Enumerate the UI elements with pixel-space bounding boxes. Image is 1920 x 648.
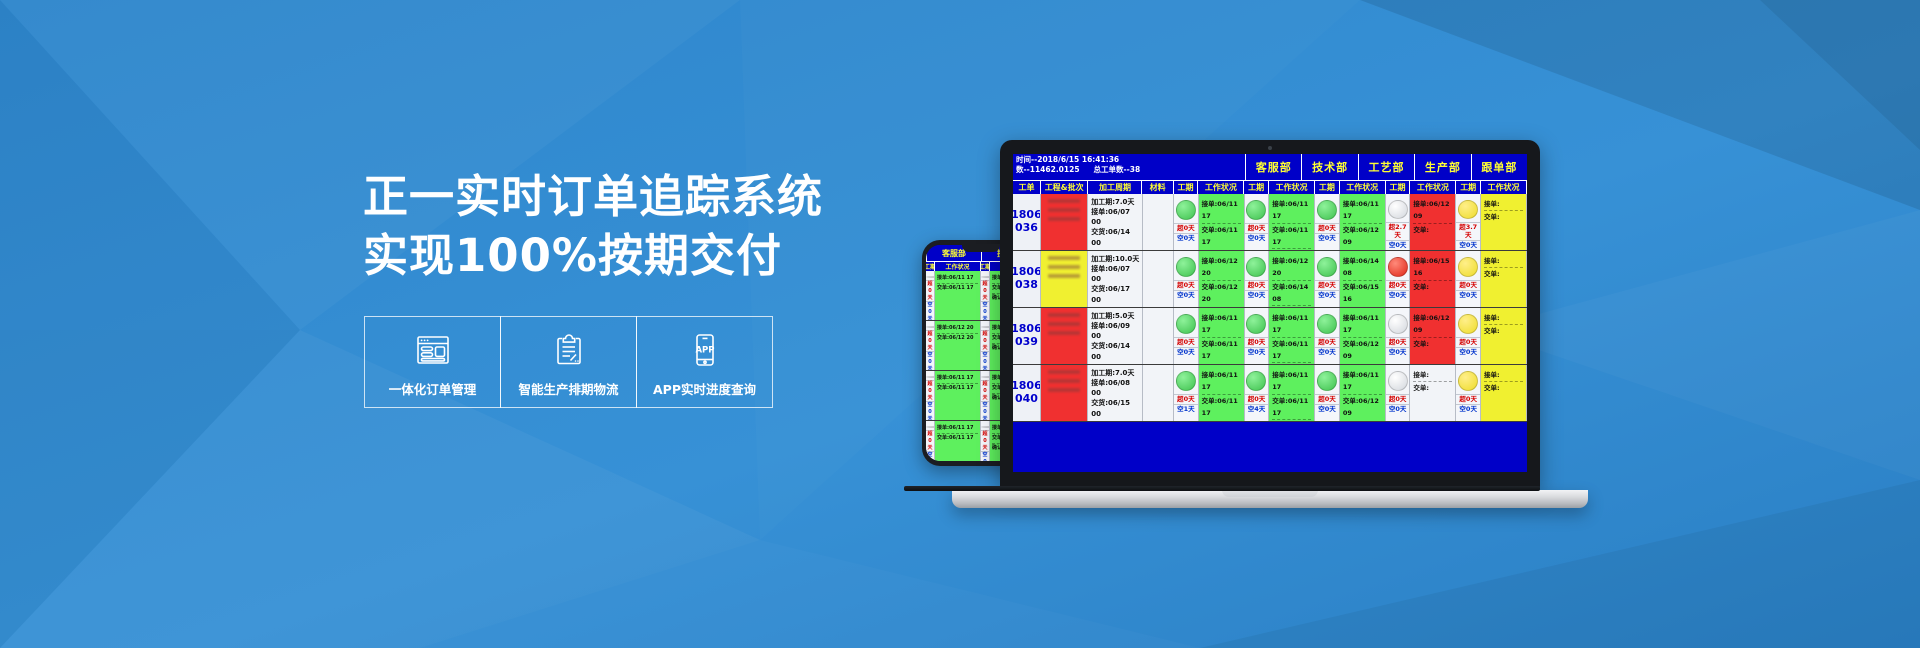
laptop-hinge xyxy=(904,486,1540,491)
status-line: 接单:06/12 09 xyxy=(1413,312,1452,338)
project-text-redacted xyxy=(1048,256,1080,260)
overdue-tag: 超0天 xyxy=(981,430,989,451)
overdue-tag: 超0天 xyxy=(981,380,989,401)
status-line: 交单:06/11 17 xyxy=(937,434,978,443)
cycle-delivery: 交货:06/15 00 xyxy=(1091,398,1140,418)
overdue-tag: 超0天 xyxy=(1174,337,1198,347)
column-header-duration: 工期 xyxy=(1244,181,1269,194)
work-order-cell[interactable]: 1806039 xyxy=(1013,308,1041,364)
feature-item-order-management[interactable]: 一体化订单管理 xyxy=(364,316,501,408)
status-cell: 接单:交单: xyxy=(1410,365,1456,421)
idle-tag: 空0天 xyxy=(981,401,989,420)
table-header-row: 工单工程&批次加工周期材料工期工作状况工期工作状况工期工作状况工期工作状况工期工… xyxy=(1013,180,1527,194)
cycle-duration: 加工期:5.0天 xyxy=(1091,311,1140,321)
status-line: 交单:06/15 16 xyxy=(1343,281,1382,306)
overdue-tag: 超0天 xyxy=(1456,280,1480,290)
status-indicator-green xyxy=(1246,371,1266,391)
status-cell: 接单:06/11 17交单:06/11 17确认:06/11 17 xyxy=(1269,194,1315,250)
overdue-tag: 超0天 xyxy=(1315,337,1339,347)
overdue-tag: 超0天 xyxy=(1174,394,1198,404)
idle-tag: 空0天 xyxy=(1315,290,1339,300)
dashboard-total-orders: 总工单数--38 xyxy=(1094,165,1141,175)
status-line: 交单:06/11 17 xyxy=(1202,338,1241,363)
cycle-delivery: 交货:06/17 00 xyxy=(1091,284,1140,304)
status-indicator-yellow xyxy=(1458,257,1478,277)
status-indicator-yellow xyxy=(1458,371,1478,391)
idle-tag: 空0天 xyxy=(1456,240,1480,250)
project-text-redacted xyxy=(1048,388,1080,392)
cycle-duration: 加工期:7.0天 xyxy=(1091,197,1140,207)
project-text-redacted xyxy=(1048,274,1080,278)
status-line: 确认:06/14 08 xyxy=(1272,306,1311,307)
status-line: 交单:06/11 17 xyxy=(937,284,978,293)
duration-cell: 超0天空0天 xyxy=(1245,251,1270,307)
project-text-redacted xyxy=(1048,265,1080,269)
idle-tag: 空0天 xyxy=(1456,347,1480,357)
status-line: 接单:06/11 17 xyxy=(1343,369,1382,395)
feature-label: APP实时进度查询 xyxy=(653,379,756,398)
status-line: 交单:06/14 08 xyxy=(1272,281,1311,307)
duration-cell: 超0天空0天 xyxy=(1315,194,1340,250)
cycle-duration: 加工期:10.0天 xyxy=(1091,254,1140,264)
status-cell: 接单:06/11 17交单:06/11 17 xyxy=(1199,308,1245,364)
duration-cell: 超0天空0天 xyxy=(1245,308,1270,364)
status-line: 确认:06/11 17 xyxy=(1272,420,1311,421)
idle-tag: 空0天 xyxy=(981,351,989,370)
dashboard-amount: 数--11462.0125 xyxy=(1016,165,1080,175)
cycle-duration: 加工期:7.0天 xyxy=(1091,368,1140,378)
status-indicator-green xyxy=(1317,314,1337,334)
status-line: 交单: xyxy=(1484,382,1523,394)
work-order-number: 039 xyxy=(1015,336,1038,349)
duration-cell: 超0天空4天 xyxy=(1245,365,1270,421)
status-cell: 接单:06/12 20交单:06/12 20 xyxy=(935,321,981,370)
status-line: 交单:06/12 09 xyxy=(1343,224,1382,249)
overdue-tag: 超0天 xyxy=(926,430,934,451)
status-line: 交单:06/12 20 xyxy=(1202,281,1241,306)
status-line: 交单:06/11 17 xyxy=(1272,224,1311,250)
material-cell xyxy=(1143,308,1174,364)
overdue-tag: 超0天 xyxy=(1245,394,1269,404)
idle-tag: 空1天 xyxy=(1174,404,1198,414)
overdue-tag: 超0天 xyxy=(1245,337,1269,347)
department-header: 跟单部 xyxy=(1471,154,1527,180)
feature-item-app-progress-query[interactable]: APP APP实时进度查询 xyxy=(636,316,773,408)
cycle-received: 接单:06/09 00 xyxy=(1091,321,1140,341)
duration-cell: 超0天空0天 xyxy=(1245,194,1270,250)
department-header: 客服部 xyxy=(1245,154,1301,180)
status-cell: 接单:06/12 09交单: xyxy=(1410,194,1456,250)
status-line: 接单: xyxy=(1413,369,1452,382)
status-cell: 接单:06/12 20交单:06/12 20 xyxy=(1199,251,1245,307)
status-indicator-green xyxy=(981,376,990,378)
status-line: 接单:06/12 20 xyxy=(937,324,978,334)
status-cell: 接单:06/11 17交单:06/11 17确认:06/11 17 xyxy=(1269,308,1315,364)
department-header-group: 客服部技术部工艺部生产部跟单部 xyxy=(1245,154,1527,180)
status-cell: 接单:06/15 16交单: xyxy=(1410,251,1456,307)
status-line: 交单:06/11 17 xyxy=(1272,395,1311,421)
status-line: 接单:06/12 20 xyxy=(1272,255,1311,281)
idle-tag: 空0天 xyxy=(1245,233,1269,243)
idle-tag: 空0天 xyxy=(1174,290,1198,300)
project-batch-cell xyxy=(1041,308,1088,364)
work-order-cell[interactable]: 1806040 xyxy=(1013,365,1041,421)
work-order-number: 040 xyxy=(1015,393,1038,406)
status-line: 接单:06/11 17 xyxy=(1272,312,1311,338)
idle-tag: 空0天 xyxy=(1456,290,1480,300)
status-cell: 接单:交单: xyxy=(1481,251,1527,307)
status-indicator-green xyxy=(926,276,935,278)
department-header: 工艺部 xyxy=(1358,154,1414,180)
status-line: 接单:06/11 17 xyxy=(1343,198,1382,224)
work-order-number: 036 xyxy=(1015,222,1038,235)
project-text-redacted xyxy=(1048,313,1080,317)
webcam-icon xyxy=(1268,146,1272,150)
overdue-tag: 超0天 xyxy=(1245,280,1269,290)
laptop-screen[interactable]: 时间--2018/6/15 16:41:36 数--11462.0125 总工单… xyxy=(1013,154,1527,472)
status-indicator-green xyxy=(926,326,935,328)
status-line: 接单:06/15 16 xyxy=(1413,255,1452,281)
status-line: 交单:06/12 20 xyxy=(937,334,978,343)
column-header: 工单 xyxy=(1013,181,1041,194)
status-line: 确认:06/11 17 xyxy=(1272,363,1311,364)
status-line: 接单:06/11 17 xyxy=(1272,198,1311,224)
overdue-tag: 超0天 xyxy=(926,330,934,351)
status-indicator-green xyxy=(1176,257,1196,277)
dashboard-time: 时间--2018/6/15 16:41:36 xyxy=(1016,155,1119,165)
status-cell: 接单:06/11 17交单:06/11 17 xyxy=(1199,365,1245,421)
status-indicator-grey xyxy=(1388,371,1408,391)
status-line: 交单: xyxy=(1413,338,1452,350)
column-header-status: 工作状况 xyxy=(1269,181,1315,194)
status-indicator-yellow xyxy=(1458,200,1478,219)
project-text-redacted xyxy=(1048,217,1080,221)
column-header: 加工周期 xyxy=(1088,181,1142,194)
overdue-tag: 超0天 xyxy=(1174,280,1198,290)
duration-cell: 超0天空0天 xyxy=(1315,365,1340,421)
project-batch-cell xyxy=(1041,365,1088,421)
idle-tag: 空0天 xyxy=(1386,240,1410,250)
overdue-tag: 超0天 xyxy=(1456,394,1480,404)
status-line: 交单:06/11 17 xyxy=(1202,224,1241,249)
overdue-tag: 超0天 xyxy=(1174,223,1198,233)
idle-tag: 空0天 xyxy=(1315,233,1339,243)
duration-cell: 超0天空0天 xyxy=(926,421,935,461)
status-cell: 接单:06/12 09交单: xyxy=(1410,308,1456,364)
column-header: 材料 xyxy=(1142,181,1173,194)
column-header-status: 工作状况 xyxy=(1481,181,1527,194)
project-text-redacted xyxy=(1048,370,1080,374)
status-line: 交单:06/12 09 xyxy=(1343,395,1382,420)
processing-cycle-cell: 加工期:7.0天接单:06/08 00交货:06/15 00 xyxy=(1088,365,1143,421)
idle-tag: 空0天 xyxy=(1174,347,1198,357)
status-indicator-green xyxy=(981,276,990,278)
idle-tag: 空0天 xyxy=(1245,290,1269,300)
status-line: 接单:06/11 17 xyxy=(937,274,978,284)
idle-tag: 空0天 xyxy=(1386,347,1410,357)
idle-tag: 空0天 xyxy=(1386,290,1410,300)
status-line: 交单: xyxy=(1413,382,1452,394)
status-line: 交单:06/11 17 xyxy=(1202,395,1241,420)
status-cell: 接单:交单: xyxy=(1481,194,1527,250)
status-indicator-green xyxy=(1317,371,1337,391)
status-indicator-green xyxy=(981,426,990,428)
status-line: 接单:06/11 17 xyxy=(937,424,978,434)
idle-tag: 空0天 xyxy=(1456,404,1480,414)
order-tracking-dashboard: 时间--2018/6/15 16:41:36 数--11462.0125 总工单… xyxy=(1013,154,1527,472)
cycle-received: 接单:06/07 00 xyxy=(1091,207,1140,227)
project-text-redacted xyxy=(1048,322,1080,326)
status-indicator-green xyxy=(926,426,935,428)
project-text-redacted xyxy=(1048,199,1080,203)
clipboard-pencil-icon xyxy=(554,330,584,370)
status-line: 接单:06/12 20 xyxy=(1202,255,1241,281)
column-header-duration: 工期 xyxy=(1315,181,1340,194)
status-cell: 接单:06/12 20交单:06/14 08确认:06/14 08 xyxy=(1269,251,1315,307)
table-row: 1806039加工期:5.0天接单:06/09 00交货:06/14 00超0天… xyxy=(1013,308,1527,365)
processing-cycle-cell: 加工期:5.0天接单:06/09 00交货:06/14 00 xyxy=(1088,308,1143,364)
idle-tag: 空0天 xyxy=(1315,404,1339,414)
status-indicator-green xyxy=(1176,371,1196,391)
status-indicator-green xyxy=(981,326,990,328)
status-line: 接单: xyxy=(1484,255,1523,268)
status-indicator-green xyxy=(1176,314,1196,334)
processing-cycle-cell: 加工期:7.0天接单:06/07 00交货:06/14 00 xyxy=(1088,194,1143,250)
status-line: 交单: xyxy=(1413,224,1452,236)
overdue-tag: 超0天 xyxy=(981,330,989,351)
overdue-tag: 超2.7天 xyxy=(1386,222,1410,241)
status-cell: 接单:交单: xyxy=(1481,308,1527,364)
status-indicator-green xyxy=(1317,257,1337,277)
duration-cell: 超0天空0天 xyxy=(926,371,935,420)
status-cell: 接单:06/11 17交单:06/12 09 xyxy=(1340,308,1386,364)
duration-cell: 超0天空0天 xyxy=(926,271,935,320)
idle-tag: 空0天 xyxy=(981,451,989,461)
idle-tag: 空0天 xyxy=(981,301,989,320)
column-header: 工程&批次 xyxy=(1041,181,1089,194)
overdue-tag: 超0天 xyxy=(926,380,934,401)
status-indicator-red xyxy=(1388,257,1408,277)
overdue-tag: 超0天 xyxy=(1456,337,1480,347)
column-header-duration: 工期 xyxy=(1386,181,1411,194)
status-cell: 接单:06/11 17交单:06/11 17确认:06/11 17 xyxy=(1269,365,1315,421)
status-indicator-green xyxy=(1246,257,1266,277)
feature-label: 智能生产排期物流 xyxy=(518,379,618,398)
table-row: 1806036加工期:7.0天接单:06/07 00交货:06/14 00超0天… xyxy=(1013,194,1527,251)
status-indicator-green xyxy=(1176,200,1196,220)
column-header-duration: 工期 xyxy=(926,262,935,271)
status-cell: 接单:06/11 17交单:06/11 17 xyxy=(935,371,981,420)
project-text-redacted xyxy=(1048,331,1080,335)
status-line: 交单:06/12 09 xyxy=(1343,338,1382,363)
duration-cell: 超0天空1天 xyxy=(1174,365,1199,421)
cycle-delivery: 交货:06/14 00 xyxy=(1091,341,1140,361)
duration-cell: 超3.7天空0天 xyxy=(1456,194,1481,250)
department-header: 客服部 xyxy=(926,245,981,261)
status-indicator-grey xyxy=(1388,200,1408,219)
status-cell: 接单:06/11 17交单:06/11 17 xyxy=(935,271,981,320)
overdue-tag: 超0天 xyxy=(1386,394,1410,404)
status-cell: 接单:06/11 17交单:06/11 17 xyxy=(1199,194,1245,250)
browser-window-icon xyxy=(416,330,450,370)
status-cell: 接单:06/11 17交单:06/12 09 xyxy=(1340,365,1386,421)
column-header-duration: 工期 xyxy=(1456,181,1481,194)
overdue-tag: 超0天 xyxy=(1315,280,1339,290)
idle-tag: 空0天 xyxy=(926,301,934,320)
status-line: 接单:06/11 17 xyxy=(1272,369,1311,395)
overdue-tag: 超0天 xyxy=(1386,337,1410,347)
work-order-cell[interactable]: 1806036 xyxy=(1013,194,1041,250)
duration-cell: 超0天空0天 xyxy=(981,421,990,461)
overdue-tag: 超0天 xyxy=(981,280,989,301)
column-header-status: 工作状况 xyxy=(935,262,981,271)
status-line: 接单: xyxy=(1484,312,1523,325)
idle-tag: 空0天 xyxy=(926,451,934,461)
idle-tag: 空0天 xyxy=(1315,347,1339,357)
headline-block: 正一实时订单追踪系统 实现100%按期交付 xyxy=(363,168,883,285)
project-text-redacted xyxy=(1048,208,1080,212)
duration-cell: 超2.7天空0天 xyxy=(1386,194,1411,250)
status-line: 交单: xyxy=(1484,325,1523,337)
laptop-mockup: 时间--2018/6/15 16:41:36 数--11462.0125 总工单… xyxy=(1000,140,1588,508)
duration-cell: 超0天空0天 xyxy=(1386,365,1411,421)
cycle-received: 接单:06/08 00 xyxy=(1091,378,1140,398)
feature-list: 一体化订单管理 智能生产排期物流 xyxy=(364,316,772,408)
dashboard-top-row: 时间--2018/6/15 16:41:36 数--11462.0125 总工单… xyxy=(1013,154,1527,180)
project-batch-cell xyxy=(1041,194,1088,250)
column-header-duration: 工期 xyxy=(1174,181,1199,194)
duration-cell: 超0天空0天 xyxy=(981,371,990,420)
status-line: 交单: xyxy=(1484,211,1523,223)
duration-cell: 超0天空0天 xyxy=(1456,365,1481,421)
work-order-cell[interactable]: 1806038 xyxy=(1013,251,1041,307)
status-line: 接单:06/11 17 xyxy=(1202,198,1241,224)
table-row: 1806038加工期:10.0天接单:06/07 00交货:06/17 00超0… xyxy=(1013,251,1527,308)
duration-cell: 超0天空0天 xyxy=(1174,194,1199,250)
overdue-tag: 超0天 xyxy=(1245,223,1269,233)
status-cell: 接单:06/11 17交单:06/12 09 xyxy=(1340,194,1386,250)
headline-line-2: 实现100%按期交付 xyxy=(363,227,883,286)
overdue-tag: 超0天 xyxy=(1315,223,1339,233)
status-cell: 接单:06/11 17交单:06/11 17 xyxy=(935,421,981,461)
duration-cell: 超0天空0天 xyxy=(1174,251,1199,307)
duration-cell: 超0天空0天 xyxy=(1315,308,1340,364)
status-line: 交单: xyxy=(1413,281,1452,293)
department-header: 技术部 xyxy=(1301,154,1357,180)
status-line: 接单:06/11 17 xyxy=(1202,369,1241,395)
column-header-duration: 工期 xyxy=(981,262,990,271)
processing-cycle-cell: 加工期:10.0天接单:06/07 00交货:06/17 00 xyxy=(1088,251,1143,307)
status-indicator-green xyxy=(1246,314,1266,334)
status-line: 交单: xyxy=(1484,268,1523,280)
department-header: 生产部 xyxy=(1414,154,1470,180)
overdue-tag: 超0天 xyxy=(926,280,934,301)
status-line: 接单: xyxy=(1484,198,1523,211)
overdue-tag: 超0天 xyxy=(1386,280,1410,290)
idle-tag: 空0天 xyxy=(926,351,934,370)
status-indicator-grey xyxy=(1388,314,1408,334)
idle-tag: 空0天 xyxy=(1386,404,1410,414)
status-line: 接单:06/12 09 xyxy=(1413,198,1452,224)
duration-cell: 超0天空0天 xyxy=(1386,308,1411,364)
project-batch-cell xyxy=(1041,251,1088,307)
cycle-received: 接单:06/07 00 xyxy=(1091,264,1140,284)
column-header-status: 工作状况 xyxy=(1198,181,1244,194)
overdue-tag: 超3.7天 xyxy=(1456,222,1480,241)
idle-tag: 空4天 xyxy=(1245,404,1269,414)
status-line: 接单: xyxy=(1484,369,1523,382)
overdue-tag: 超0天 xyxy=(1315,394,1339,404)
banner-stage: 正一实时订单追踪系统 实现100%按期交付 一体化订单管理 xyxy=(0,0,1920,648)
column-header-status: 工作状况 xyxy=(1340,181,1386,194)
duration-cell: 超0天空0天 xyxy=(981,271,990,320)
status-indicator-green xyxy=(1246,200,1266,220)
project-text-redacted xyxy=(1048,379,1080,383)
laptop-lid: 时间--2018/6/15 16:41:36 数--11462.0125 总工单… xyxy=(1000,140,1540,490)
column-header-status: 工作状况 xyxy=(1410,181,1456,194)
table-body: 1806036加工期:7.0天接单:06/07 00交货:06/14 00超0天… xyxy=(1013,194,1527,422)
duration-cell: 超0天空0天 xyxy=(1174,308,1199,364)
material-cell xyxy=(1143,251,1174,307)
mobile-app-icon: APP xyxy=(692,330,718,370)
laptop-base xyxy=(952,490,1588,508)
headline-line-1: 正一实时订单追踪系统 xyxy=(363,170,823,223)
status-line: 交单:06/11 17 xyxy=(1272,338,1311,364)
cycle-delivery: 交货:06/14 00 xyxy=(1091,227,1140,247)
duration-cell: 超0天空0天 xyxy=(1315,251,1340,307)
status-indicator-green xyxy=(926,376,935,378)
duration-cell: 超0天空0天 xyxy=(926,321,935,370)
status-line: 接单:06/14 08 xyxy=(1343,255,1382,281)
status-cell: 接单:06/14 08交单:06/15 16 xyxy=(1340,251,1386,307)
page-title: 正一实时订单追踪系统 实现100%按期交付 xyxy=(363,168,883,285)
duration-cell: 超0天空0天 xyxy=(1386,251,1411,307)
status-line: 交单:06/11 17 xyxy=(937,384,978,393)
feature-item-production-scheduling[interactable]: 智能生产排期物流 xyxy=(500,316,637,408)
duration-cell: 超0天空0天 xyxy=(1456,308,1481,364)
idle-tag: 空0天 xyxy=(926,401,934,420)
status-line: 接单:06/11 17 xyxy=(1202,312,1241,338)
status-cell: 接单:交单: xyxy=(1481,365,1527,421)
material-cell xyxy=(1143,194,1174,250)
table-row: 1806040加工期:7.0天接单:06/08 00交货:06/15 00超0天… xyxy=(1013,365,1527,422)
work-order-number: 038 xyxy=(1015,279,1038,292)
app-icon-text: APP xyxy=(695,346,714,356)
material-cell xyxy=(1143,365,1174,421)
status-indicator-yellow xyxy=(1458,314,1478,334)
feature-label: 一体化订单管理 xyxy=(389,379,477,398)
dashboard-meta: 时间--2018/6/15 16:41:36 数--11462.0125 总工单… xyxy=(1013,154,1245,180)
idle-tag: 空0天 xyxy=(1245,347,1269,357)
duration-cell: 超0天空0天 xyxy=(981,321,990,370)
duration-cell: 超0天空0天 xyxy=(1456,251,1481,307)
status-line: 接单:06/11 17 xyxy=(1343,312,1382,338)
status-line: 接单:06/11 17 xyxy=(937,374,978,384)
status-line: 确认:06/11 17 xyxy=(1272,249,1311,250)
status-indicator-green xyxy=(1317,200,1337,220)
idle-tag: 空0天 xyxy=(1174,233,1198,243)
